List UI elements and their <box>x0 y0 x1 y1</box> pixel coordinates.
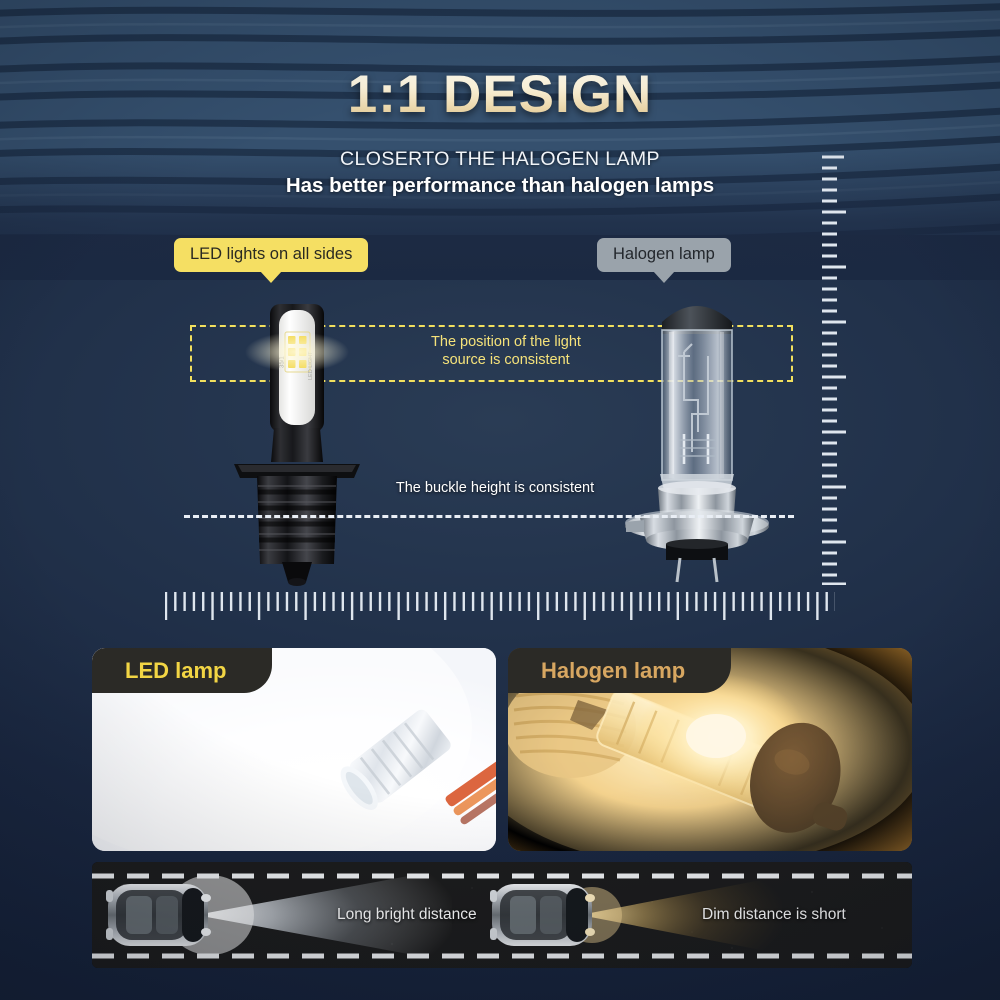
light-position-line-2: source is consistent <box>386 351 626 369</box>
panel-label-led-text: LED lamp <box>125 658 226 684</box>
infographic-stage: 1:1 DESIGN CLOSERTO THE HALOGEN LAMP Has… <box>0 0 1000 1000</box>
photo-panel-halogen: Halogen lamp <box>508 648 912 851</box>
photo-panel-led: LED lamp <box>92 648 496 851</box>
light-position-annotation: The position of the light source is cons… <box>386 333 626 369</box>
beam-caption-led: Long bright distance <box>337 906 477 924</box>
callout-tail <box>260 271 282 283</box>
light-position-line-1: The position of the light <box>386 333 626 351</box>
callout-led-lights: LED lights on all sides <box>174 238 368 272</box>
led-bulb-icon: 35/1 LED LIGHT <box>222 296 372 586</box>
page-title: 1:1 DESIGN <box>0 64 1000 125</box>
beam-caption-halogen: Dim distance is short <box>702 906 846 924</box>
panel-label-halogen: Halogen lamp <box>508 648 731 693</box>
callout-led-label: LED lights on all sides <box>190 245 352 263</box>
buckle-height-annotation: The buckle height is consistent <box>370 480 620 496</box>
panel-label-led: LED lamp <box>92 648 272 693</box>
callout-halogen-label: Halogen lamp <box>613 245 715 263</box>
buckle-height-dashed-line <box>184 515 794 518</box>
vertical-ruler-icon <box>820 155 860 585</box>
halogen-bulb-icon <box>622 282 772 584</box>
callout-halogen-lamp: Halogen lamp <box>597 238 731 272</box>
panel-label-halogen-text: Halogen lamp <box>541 658 685 684</box>
horizontal-ruler-icon <box>165 590 835 622</box>
